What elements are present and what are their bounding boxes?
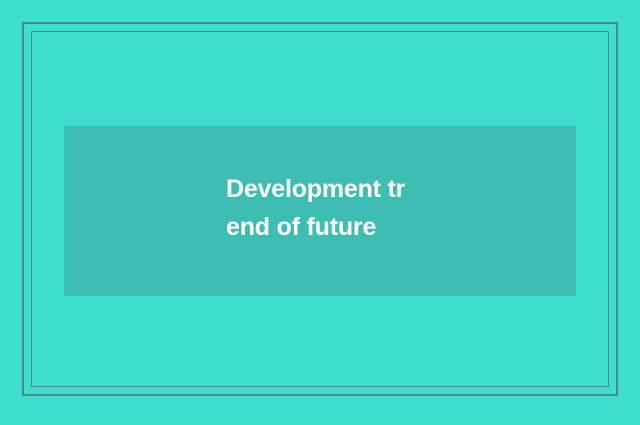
content-panel: Development trend of future — [64, 126, 576, 296]
poster-canvas: Development trend of future — [0, 0, 640, 425]
headline-text: Development trend of future — [226, 170, 416, 246]
